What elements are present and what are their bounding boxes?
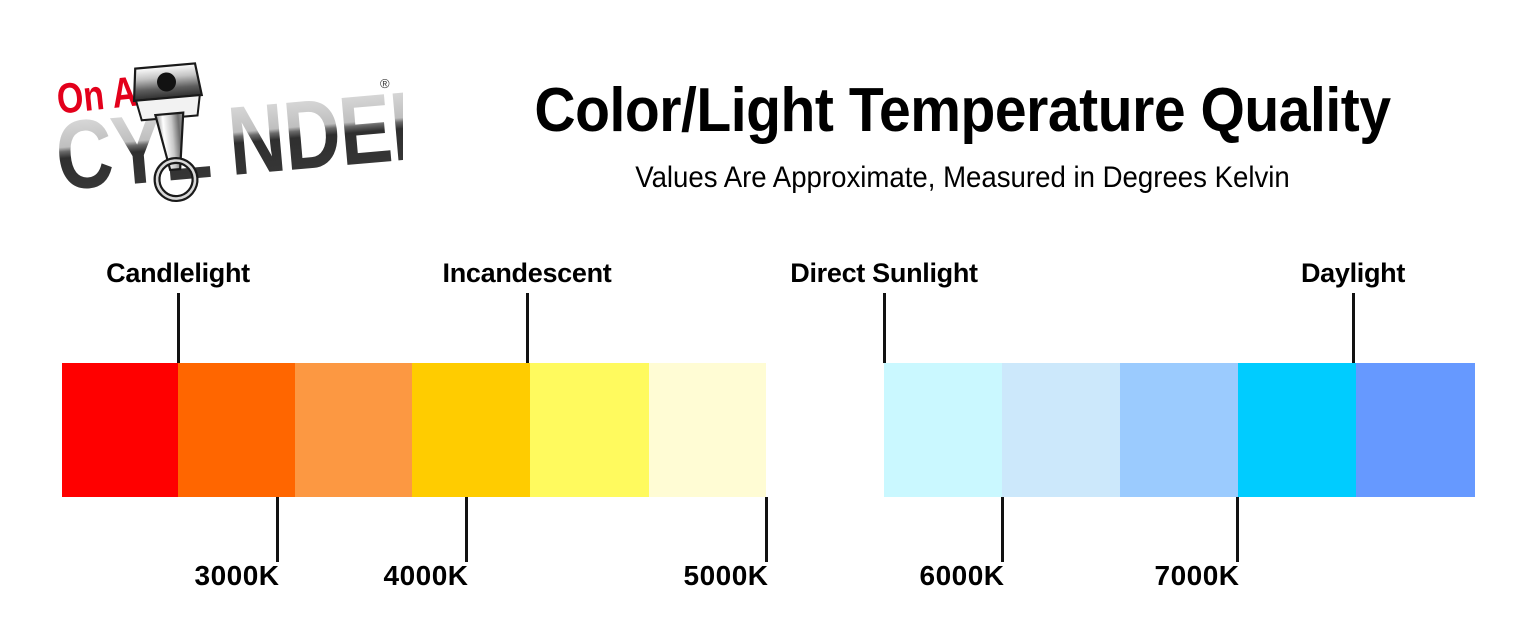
color-swatch-warm-2 bbox=[295, 363, 412, 497]
tick-line-kelvin-1 bbox=[465, 497, 468, 562]
kelvin-label: 6000K bbox=[919, 560, 1004, 592]
kelvin-label: 3000K bbox=[194, 560, 279, 592]
color-swatch-warm-1 bbox=[178, 363, 295, 497]
tick-line-source-1 bbox=[526, 293, 529, 363]
warm-color-bar bbox=[62, 363, 766, 497]
light-source-label: Daylight bbox=[1301, 258, 1405, 288]
color-swatch-cool-1 bbox=[1002, 363, 1120, 497]
tick-line-kelvin-0 bbox=[276, 497, 279, 562]
color-temperature-scale: CandlelightIncandescentDirect SunlightDa… bbox=[0, 0, 1536, 644]
tick-line-kelvin-3 bbox=[1001, 497, 1004, 562]
color-swatch-cool-2 bbox=[1120, 363, 1238, 497]
color-swatch-warm-3 bbox=[412, 363, 530, 497]
color-swatch-cool-3 bbox=[1238, 363, 1356, 497]
color-swatch-warm-4 bbox=[530, 363, 649, 497]
tick-line-kelvin-4 bbox=[1236, 497, 1239, 562]
kelvin-label: 5000K bbox=[683, 560, 768, 592]
light-source-label: Direct Sunlight bbox=[790, 258, 978, 288]
tick-line-kelvin-2 bbox=[765, 497, 768, 562]
cool-color-bar bbox=[884, 363, 1475, 497]
kelvin-label: 7000K bbox=[1154, 560, 1239, 592]
light-source-label: Candlelight bbox=[106, 258, 250, 288]
color-swatch-warm-5 bbox=[649, 363, 766, 497]
color-swatch-warm-0 bbox=[62, 363, 178, 497]
light-source-label: Incandescent bbox=[443, 258, 612, 288]
kelvin-label: 4000K bbox=[383, 560, 468, 592]
tick-line-source-0 bbox=[177, 293, 180, 363]
tick-line-source-3 bbox=[1352, 293, 1355, 363]
tick-line-source-2 bbox=[883, 293, 886, 363]
color-swatch-cool-0 bbox=[884, 363, 1002, 497]
color-swatch-cool-4 bbox=[1356, 363, 1475, 497]
